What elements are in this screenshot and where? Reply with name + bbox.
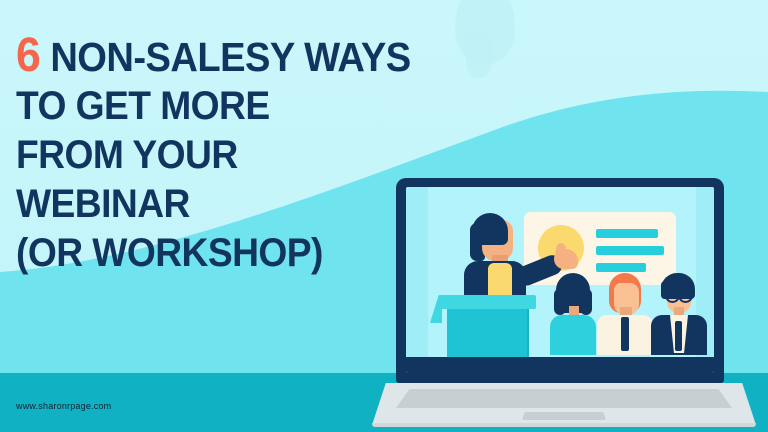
podium-ledge [438, 295, 536, 309]
headline-number: 6 [16, 29, 40, 82]
slide-canvas: 6 NON-SALESY WAYS TO GET MORE FROM YOUR … [0, 0, 768, 432]
decorative-blob-stem-icon [466, 34, 492, 78]
site-url[interactable]: www.sharonrpage.com [16, 401, 111, 411]
audience-woman [544, 273, 602, 357]
audience-man-center [595, 273, 657, 357]
audience-man-glasses [649, 273, 711, 357]
presenter-hand [554, 249, 578, 269]
man-tie [621, 317, 629, 351]
podium-body [447, 307, 527, 359]
laptop-frame [396, 178, 724, 383]
woman-top [550, 315, 596, 355]
laptop-trackpad [522, 412, 606, 420]
headline-line-5: (OR WORKSHOP) [16, 229, 407, 278]
board-text-bar [596, 246, 664, 255]
headline-line-3: FROM YOUR [16, 131, 407, 180]
laptop-keyboard [396, 389, 732, 408]
glasses-bridge-icon [676, 293, 679, 295]
page-title: 6 NON-SALESY WAYS TO GET MORE FROM YOUR … [16, 32, 436, 278]
board-text-bar [596, 229, 658, 238]
glasses-icon [678, 288, 693, 303]
headline-line-2: TO GET MORE [16, 82, 407, 131]
scene-floor [406, 357, 714, 373]
headline-line-4: WEBINAR [16, 180, 407, 229]
glasses-man-tie [675, 321, 682, 351]
headline-line-1-text: NON-SALESY WAYS [50, 34, 410, 80]
webinar-laptop-illustration [386, 178, 742, 432]
board-text-bar [596, 263, 646, 272]
laptop-screen [406, 187, 714, 373]
laptop-front-lip [372, 423, 756, 427]
headline-line-1: 6 NON-SALESY WAYS [16, 32, 407, 82]
presenter-hair [472, 213, 508, 245]
